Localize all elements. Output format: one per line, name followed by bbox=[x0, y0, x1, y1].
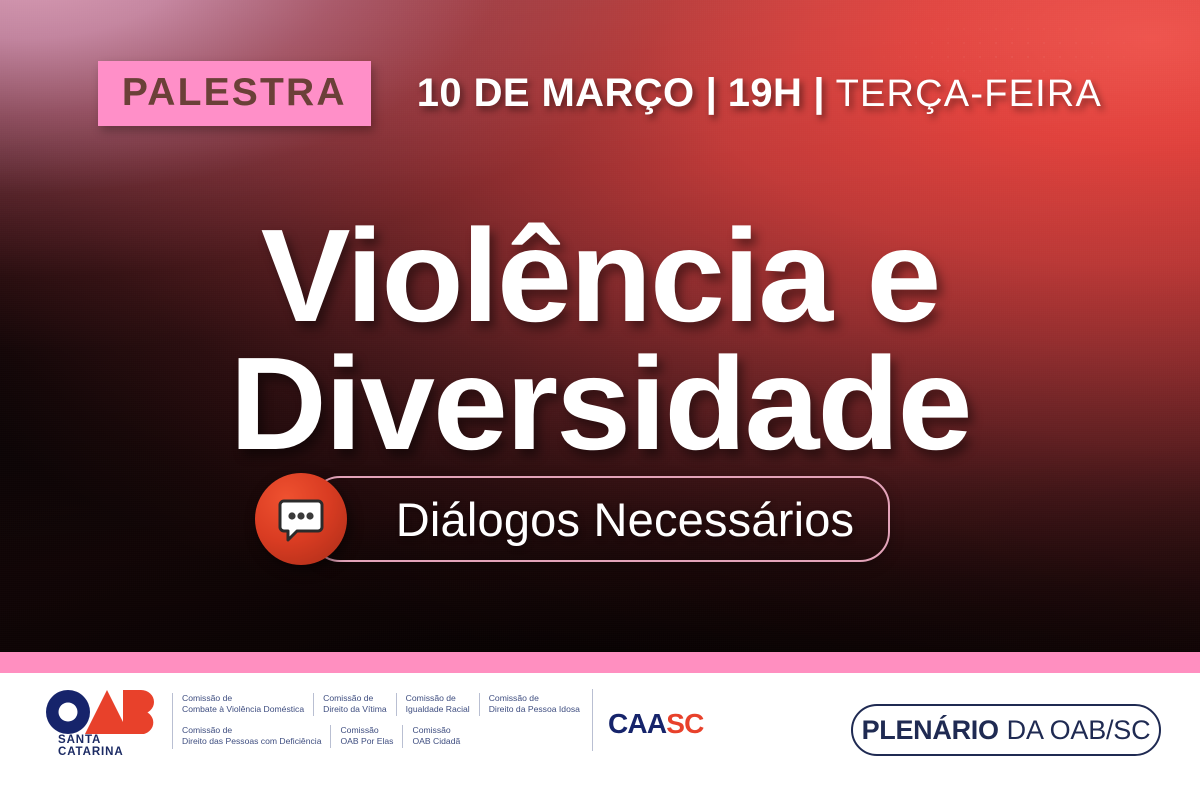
hero-top-row: PALESTRA 10 DE MARÇO | 19H | TERÇA-FEIRA bbox=[0, 63, 1200, 123]
commission-row: Comissão deDireito das Pessoas com Defic… bbox=[182, 725, 589, 748]
footer-divider-caasc bbox=[592, 689, 593, 751]
commission-item: Comissão deCombate à Violência Doméstica bbox=[182, 693, 313, 716]
event-subtitle: Diálogos Necessários bbox=[396, 496, 855, 543]
event-title: Violência e Diversidade bbox=[0, 212, 1200, 468]
commission-item: Comissão deDireito das Pessoas com Defic… bbox=[182, 725, 330, 748]
commission-item: Comissão deDireito da Vítima bbox=[313, 693, 396, 716]
subtitle-pill: Diálogos Necessários bbox=[310, 476, 891, 562]
caasc-logo-part-1: CAA bbox=[608, 708, 666, 739]
commission-item: ComissãoOAB Cidadã bbox=[402, 725, 469, 748]
event-weekday: TERÇA-FEIRA bbox=[836, 75, 1103, 113]
event-poster: PALESTRA 10 DE MARÇO | 19H | TERÇA-FEIRA… bbox=[0, 0, 1200, 799]
event-title-line-1: Violência e bbox=[0, 212, 1200, 340]
caasc-logo: CAASC bbox=[608, 710, 704, 738]
event-time: 19H bbox=[728, 73, 803, 113]
date-separator-1: | bbox=[695, 73, 728, 113]
event-title-line-2: Diversidade bbox=[0, 340, 1200, 468]
oab-logo: SANTA CATARINA bbox=[45, 689, 165, 753]
footer-divider-logo bbox=[172, 693, 173, 749]
commission-item: Comissão deIgualdade Racial bbox=[396, 693, 479, 716]
commission-item: ComissãoOAB Por Elas bbox=[330, 725, 402, 748]
venue-name: PLENÁRIO bbox=[862, 717, 999, 744]
commission-row: Comissão deCombate à Violência Doméstica… bbox=[182, 693, 589, 716]
commission-item: Comissão deDireito da Pessoa Idosa bbox=[479, 693, 589, 716]
venue-badge: PLENÁRIO DA OAB/SC bbox=[851, 704, 1161, 756]
caasc-logo-part-2: SC bbox=[666, 708, 703, 739]
commission-list: Comissão deCombate à Violência Doméstica… bbox=[182, 693, 589, 748]
palestra-badge: PALESTRA bbox=[98, 61, 371, 126]
chat-bubble-icon bbox=[255, 473, 347, 565]
venue-org: DA OAB/SC bbox=[999, 717, 1151, 744]
oab-state-label: SANTA CATARINA bbox=[58, 735, 165, 758]
event-date-line: 10 DE MARÇO | 19H | TERÇA-FEIRA bbox=[417, 73, 1102, 113]
event-date-day: 10 DE MARÇO bbox=[417, 73, 695, 113]
pink-divider-band bbox=[0, 652, 1200, 673]
date-separator-2: | bbox=[802, 73, 835, 113]
subtitle-row: Diálogos Necessários bbox=[0, 476, 1200, 562]
